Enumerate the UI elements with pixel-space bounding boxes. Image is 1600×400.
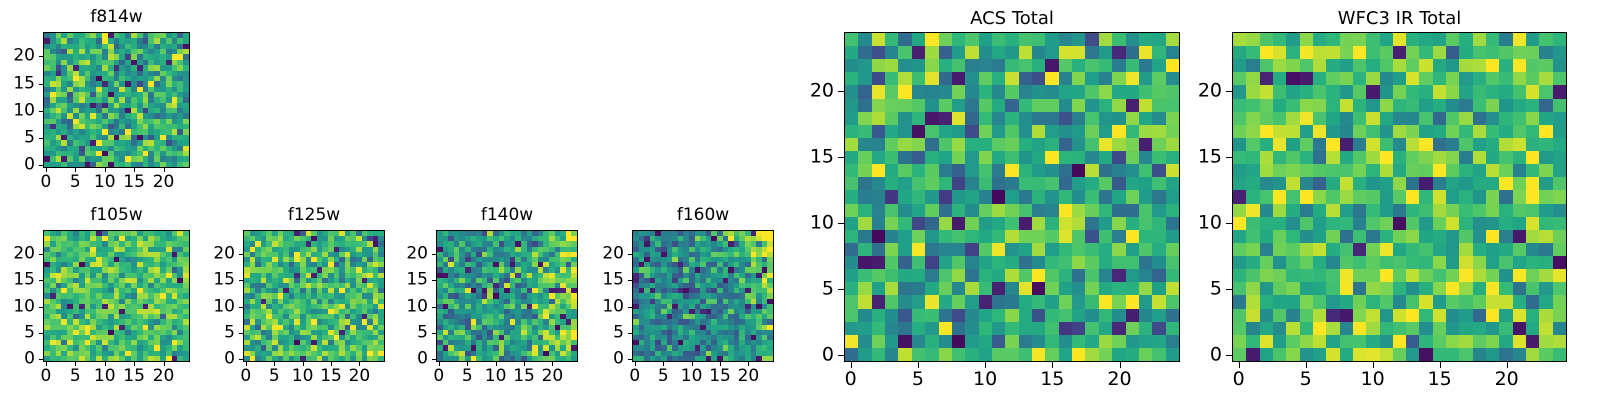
heatmap-cell — [845, 269, 858, 282]
heatmap-cell — [1406, 112, 1419, 125]
heatmap-cell — [1459, 335, 1472, 348]
heatmap-cell — [1433, 85, 1446, 98]
heatmap-cell — [952, 125, 965, 138]
heatmap-cell — [1446, 269, 1459, 282]
heatmap-cell — [1393, 282, 1406, 295]
heatmap-cell — [1112, 282, 1125, 295]
heatmap-cell — [898, 138, 911, 151]
heatmap-cell — [1553, 59, 1566, 72]
heatmap-cell — [1459, 269, 1472, 282]
heatmap-cell — [858, 295, 871, 308]
heatmap-cell — [1446, 151, 1459, 164]
heatmap-cell — [1446, 46, 1459, 59]
heatmap-cell — [1539, 125, 1552, 138]
heatmap-cell — [1246, 85, 1259, 98]
heatmap-cell — [1313, 243, 1326, 256]
heatmap-cell — [1152, 243, 1165, 256]
heatmap-cell — [1246, 177, 1259, 190]
heatmap-cell — [1406, 164, 1419, 177]
heatmap-cell — [1340, 348, 1353, 361]
heatmap-cell — [1233, 99, 1246, 112]
heatmap-cell — [1526, 151, 1539, 164]
heatmap-cell — [1005, 217, 1018, 230]
heatmap-cell — [858, 125, 871, 138]
heatmap-cell — [1313, 295, 1326, 308]
heatmap-cell — [1273, 348, 1286, 361]
y-tick-label: 15 — [193, 272, 235, 289]
heatmap-cell — [1059, 309, 1072, 322]
heatmap-cell — [1393, 335, 1406, 348]
heatmap-cell — [965, 190, 978, 203]
heatmap-cell — [1059, 99, 1072, 112]
heatmap-cell — [1032, 112, 1045, 125]
heatmap-cell — [1486, 85, 1499, 98]
heatmap-cell — [1473, 295, 1486, 308]
heatmap-cell — [1326, 138, 1339, 151]
heatmap-cell — [912, 85, 925, 98]
heatmap-cell — [1473, 269, 1486, 282]
heatmap-cell — [1032, 85, 1045, 98]
heatmap-cell — [992, 151, 1005, 164]
heatmap-cell — [1366, 309, 1379, 322]
heatmap-cell — [1233, 138, 1246, 151]
heatmap-cell — [885, 138, 898, 151]
heatmap-cell — [952, 46, 965, 59]
heatmap-cell — [1166, 204, 1179, 217]
heatmap-cell — [1246, 59, 1259, 72]
heatmap-cell — [1553, 46, 1566, 59]
heatmap-cell — [1072, 99, 1085, 112]
heatmap-cell — [965, 243, 978, 256]
heatmap-cell — [1473, 190, 1486, 203]
heatmap-cell — [1526, 322, 1539, 335]
heatmap-cell — [1152, 230, 1165, 243]
heatmap-cell — [1539, 243, 1552, 256]
heatmap-cell — [1233, 46, 1246, 59]
heatmap-cell — [952, 256, 965, 269]
heatmap-cell — [1526, 138, 1539, 151]
heatmap-cell — [1019, 322, 1032, 335]
heatmap-cell — [1286, 190, 1299, 203]
heatmap-cell — [885, 164, 898, 177]
y-tick-mark — [239, 254, 243, 255]
heatmap-cell — [979, 151, 992, 164]
heatmap-cell — [1419, 335, 1432, 348]
heatmap-cell — [1045, 177, 1058, 190]
heatmap-cell — [952, 348, 965, 361]
heatmap-cell — [872, 72, 885, 85]
heatmap-cell — [1326, 112, 1339, 125]
heatmap-cell — [1553, 243, 1566, 256]
heatmap-cell — [979, 59, 992, 72]
heatmap-cell — [925, 348, 938, 361]
heatmap-cell — [965, 309, 978, 322]
heatmap-cell — [1473, 335, 1486, 348]
heatmap-cell — [1380, 282, 1393, 295]
heatmap-cell — [912, 269, 925, 282]
heatmap-cell — [939, 322, 952, 335]
heatmap-cell — [979, 85, 992, 98]
heatmap-cell — [1286, 243, 1299, 256]
heatmap-cell — [1126, 217, 1139, 230]
heatmap-cell — [1313, 256, 1326, 269]
y-tick-mark — [39, 56, 43, 57]
heatmap-cell — [965, 164, 978, 177]
heatmap-axes-wfc3-ir-total[interactable] — [1232, 32, 1567, 362]
heatmap-cell — [1313, 85, 1326, 98]
heatmap-cell — [1406, 99, 1419, 112]
heatmap-cell — [1085, 243, 1098, 256]
heatmap-cell — [1005, 230, 1018, 243]
heatmap-cell — [1233, 177, 1246, 190]
y-tick-label: 20 — [0, 245, 35, 262]
heatmap-cell — [1246, 322, 1259, 335]
heatmap-cell — [1059, 295, 1072, 308]
heatmap-cell — [1459, 282, 1472, 295]
heatmap-cell — [1166, 256, 1179, 269]
heatmap-cell — [1273, 335, 1286, 348]
heatmap-cell — [965, 335, 978, 348]
heatmap-cell — [1072, 164, 1085, 177]
heatmap-cell — [1260, 46, 1273, 59]
heatmap-cell — [1353, 204, 1366, 217]
heatmap-cell — [1166, 309, 1179, 322]
heatmap-cell — [965, 125, 978, 138]
heatmap-cell — [979, 309, 992, 322]
heatmap-cell — [1473, 322, 1486, 335]
heatmap-cell — [1300, 348, 1313, 361]
heatmap-cell — [1260, 85, 1273, 98]
heatmap-cell — [1099, 59, 1112, 72]
heatmap-cell — [1019, 335, 1032, 348]
heatmap-cell — [1032, 151, 1045, 164]
heatmap-cell — [1019, 204, 1032, 217]
x-tick-label: 10 — [292, 368, 314, 385]
heatmap-cell — [1459, 190, 1472, 203]
heatmap-cell — [1139, 138, 1152, 151]
heatmap-cell — [1233, 112, 1246, 125]
heatmap-cell — [845, 46, 858, 59]
heatmap-cell — [1166, 322, 1179, 335]
heatmap-cell — [1300, 85, 1313, 98]
heatmap-cell — [1486, 190, 1499, 203]
y-tick-label: 15 — [386, 272, 428, 289]
heatmap-cell — [1326, 322, 1339, 335]
heatmap-axes-f814w[interactable] — [43, 32, 190, 168]
heatmap-cell — [885, 243, 898, 256]
heatmap-axes-acs-total[interactable] — [844, 32, 1180, 362]
heatmap-cell — [1553, 217, 1566, 230]
heatmap-cell — [1233, 85, 1246, 98]
heatmap-cell — [1152, 282, 1165, 295]
heatmap-cell — [1513, 112, 1526, 125]
heatmap-cell — [845, 204, 858, 217]
heatmap-cell — [1380, 269, 1393, 282]
heatmap-cell — [1513, 177, 1526, 190]
x-tick-label: 20 — [1495, 370, 1519, 389]
heatmap-cell — [1300, 72, 1313, 85]
heatmap-cell — [1072, 138, 1085, 151]
heatmap-cell — [1045, 243, 1058, 256]
heatmap-cell — [1459, 99, 1472, 112]
heatmap-cell — [1526, 164, 1539, 177]
y-tick-label: 20 — [0, 48, 35, 65]
heatmap-cell — [992, 112, 1005, 125]
heatmap-cell — [1166, 125, 1179, 138]
heatmap-cell — [1126, 204, 1139, 217]
heatmap-cell — [1473, 243, 1486, 256]
heatmap-cell — [1446, 85, 1459, 98]
heatmap-cell — [898, 282, 911, 295]
heatmap-cell — [1486, 151, 1499, 164]
heatmap-cell — [1419, 151, 1432, 164]
x-tick-label: 15 — [123, 174, 145, 191]
heatmap-cell — [1005, 269, 1018, 282]
heatmap-cell — [1313, 112, 1326, 125]
heatmap-cell — [1539, 99, 1552, 112]
y-tick-label: 0 — [386, 351, 428, 368]
y-tick-label: 10 — [1180, 214, 1222, 233]
heatmap-cell — [1300, 177, 1313, 190]
heatmap-cell — [1419, 309, 1432, 322]
heatmap-cell — [952, 309, 965, 322]
heatmap-cell — [1313, 125, 1326, 138]
heatmap-cell — [1499, 269, 1512, 282]
heatmap-cell — [885, 230, 898, 243]
heatmap-cell — [925, 269, 938, 282]
heatmap-cell — [979, 348, 992, 361]
heatmap-cell — [1072, 217, 1085, 230]
heatmap-cell — [1005, 190, 1018, 203]
heatmap-cell — [1152, 125, 1165, 138]
heatmap-cell — [1085, 138, 1098, 151]
heatmap-cell — [1085, 151, 1098, 164]
heatmap-cell — [1059, 256, 1072, 269]
heatmap-cell — [1152, 59, 1165, 72]
heatmap-cell — [979, 204, 992, 217]
heatmap-cell — [885, 112, 898, 125]
heatmap-cell — [1286, 335, 1299, 348]
heatmap-cell — [1112, 295, 1125, 308]
heatmap-cell — [1326, 125, 1339, 138]
y-tick-label: 5 — [0, 130, 35, 147]
heatmap-axes-f140w[interactable] — [436, 230, 578, 362]
heatmap-cell — [1539, 309, 1552, 322]
heatmap-cell — [912, 177, 925, 190]
heatmap-cell — [1326, 230, 1339, 243]
heatmap-cell — [1045, 230, 1058, 243]
heatmap-cell — [1340, 99, 1353, 112]
heatmap-cell — [1393, 256, 1406, 269]
heatmap-cell — [1473, 112, 1486, 125]
heatmap-cell — [872, 217, 885, 230]
heatmap-cell — [1112, 335, 1125, 348]
heatmap-cell — [1045, 125, 1058, 138]
x-tick-label: 15 — [1428, 370, 1452, 389]
heatmap-cell — [979, 243, 992, 256]
heatmap-cell — [1273, 125, 1286, 138]
heatmap-cell — [1513, 322, 1526, 335]
heatmap-cell — [1005, 72, 1018, 85]
heatmap-cell — [1406, 269, 1419, 282]
heatmap-cell — [1139, 230, 1152, 243]
heatmap-cell — [898, 33, 911, 46]
heatmap-cell — [1553, 151, 1566, 164]
heatmap-cell — [1246, 269, 1259, 282]
x-tick-label: 10 — [94, 368, 116, 385]
heatmap-cell — [1499, 33, 1512, 46]
heatmap-cell — [1019, 230, 1032, 243]
heatmap-cell — [1166, 112, 1179, 125]
heatmap-cell — [845, 99, 858, 112]
heatmap-cell — [1072, 256, 1085, 269]
heatmap-cell — [898, 309, 911, 322]
heatmap-cell — [1459, 85, 1472, 98]
heatmap-cell — [1126, 190, 1139, 203]
heatmap-cell — [992, 217, 1005, 230]
heatmap-cell — [1406, 230, 1419, 243]
heatmap-cell — [939, 125, 952, 138]
heatmap-cell — [898, 125, 911, 138]
heatmap-cell — [1406, 125, 1419, 138]
heatmap-cell — [1526, 269, 1539, 282]
heatmap-cell — [1353, 348, 1366, 361]
heatmap-cell — [1340, 282, 1353, 295]
heatmap-cell — [925, 112, 938, 125]
heatmap-cell — [1260, 151, 1273, 164]
heatmap-cell — [912, 164, 925, 177]
heatmap-cell — [1072, 59, 1085, 72]
heatmap-cell — [858, 85, 871, 98]
heatmap-cell — [1045, 59, 1058, 72]
heatmap-cell — [1406, 322, 1419, 335]
heatmap-cell — [898, 322, 911, 335]
heatmap-cell — [952, 112, 965, 125]
heatmap-cell — [1446, 243, 1459, 256]
x-tick-label: 20 — [153, 368, 175, 385]
heatmap-cell — [939, 309, 952, 322]
heatmap-cell — [885, 322, 898, 335]
heatmap-cell — [1273, 151, 1286, 164]
heatmap-cell — [1539, 33, 1552, 46]
heatmap-cell — [939, 59, 952, 72]
heatmap-axes-f160w[interactable] — [632, 230, 774, 362]
heatmap-cell — [1233, 230, 1246, 243]
heatmap-cell — [1486, 256, 1499, 269]
heatmap-cell — [1246, 46, 1259, 59]
heatmap-cell — [1099, 164, 1112, 177]
heatmap-cell — [1300, 112, 1313, 125]
heatmap-cell — [1499, 151, 1512, 164]
heatmap-cell — [965, 59, 978, 72]
heatmap-cell — [1139, 99, 1152, 112]
heatmap-cell — [1313, 190, 1326, 203]
heatmap-cell — [885, 335, 898, 348]
heatmap-cell — [1553, 112, 1566, 125]
heatmap-cell — [1019, 243, 1032, 256]
heatmap-cell — [1380, 138, 1393, 151]
heatmap-cell — [1486, 348, 1499, 361]
y-tick-mark — [432, 280, 436, 281]
heatmap-cell — [1085, 72, 1098, 85]
heatmap-cell — [898, 59, 911, 72]
heatmap-cell — [979, 177, 992, 190]
heatmap-cell — [1486, 125, 1499, 138]
heatmap-cell — [1380, 112, 1393, 125]
heatmap-cell — [1459, 204, 1472, 217]
heatmap-cell — [1486, 269, 1499, 282]
heatmap-cell — [1526, 46, 1539, 59]
heatmap-cell — [1300, 138, 1313, 151]
heatmap-cell — [1433, 112, 1446, 125]
heatmap-cell — [992, 348, 1005, 361]
heatmap-cell — [1499, 217, 1512, 230]
heatmap-cell — [1059, 322, 1072, 335]
heatmap-cell — [1166, 151, 1179, 164]
heatmap-cell — [872, 295, 885, 308]
heatmap-cell — [925, 309, 938, 322]
heatmap-cell — [925, 151, 938, 164]
heatmap-cell — [1059, 282, 1072, 295]
heatmap-cell — [1433, 46, 1446, 59]
heatmap-cell — [952, 164, 965, 177]
heatmap-cell — [1260, 309, 1273, 322]
heatmap-cell — [845, 85, 858, 98]
heatmap-cell — [1539, 204, 1552, 217]
heatmap-cell — [1166, 190, 1179, 203]
heatmap-cell — [1045, 138, 1058, 151]
heatmap-cell — [1513, 85, 1526, 98]
heatmap-cell — [1005, 177, 1018, 190]
heatmap-cell — [1059, 138, 1072, 151]
heatmap-cell — [872, 151, 885, 164]
y-tick-label: 10 — [193, 298, 235, 315]
heatmap-cell — [1393, 59, 1406, 72]
heatmap-cell — [1099, 295, 1112, 308]
heatmap-cell — [1340, 125, 1353, 138]
heatmap-cell — [1553, 348, 1566, 361]
heatmap-cell — [965, 204, 978, 217]
heatmap-axes-f105w[interactable] — [43, 230, 190, 362]
heatmap-cell — [1139, 204, 1152, 217]
heatmap-cell — [992, 59, 1005, 72]
y-tick-label: 15 — [792, 148, 834, 167]
heatmap-cell — [1353, 72, 1366, 85]
heatmap-cell — [1553, 33, 1566, 46]
heatmap-cell — [1059, 335, 1072, 348]
heatmap-cell — [1085, 322, 1098, 335]
heatmap-cell — [1459, 59, 1472, 72]
heatmap-cell — [1099, 335, 1112, 348]
heatmap-cell — [1260, 99, 1273, 112]
heatmap-cell — [1473, 256, 1486, 269]
heatmap-cell — [1393, 204, 1406, 217]
heatmap-axes-f125w[interactable] — [243, 230, 385, 362]
heatmap-cell — [1273, 85, 1286, 98]
heatmap-cell — [925, 282, 938, 295]
heatmap-cell — [1513, 230, 1526, 243]
heatmap-cell — [1313, 282, 1326, 295]
x-tick-label: 15 — [1040, 370, 1064, 389]
heatmap-cell — [1032, 269, 1045, 282]
y-tick-label: 5 — [1180, 280, 1222, 299]
heatmap-cell — [1473, 309, 1486, 322]
heatmap-cell — [1286, 322, 1299, 335]
heatmap-cell — [1326, 85, 1339, 98]
heatmap-cell — [1059, 217, 1072, 230]
heatmap-cell — [1340, 217, 1353, 230]
heatmap-cell — [925, 177, 938, 190]
